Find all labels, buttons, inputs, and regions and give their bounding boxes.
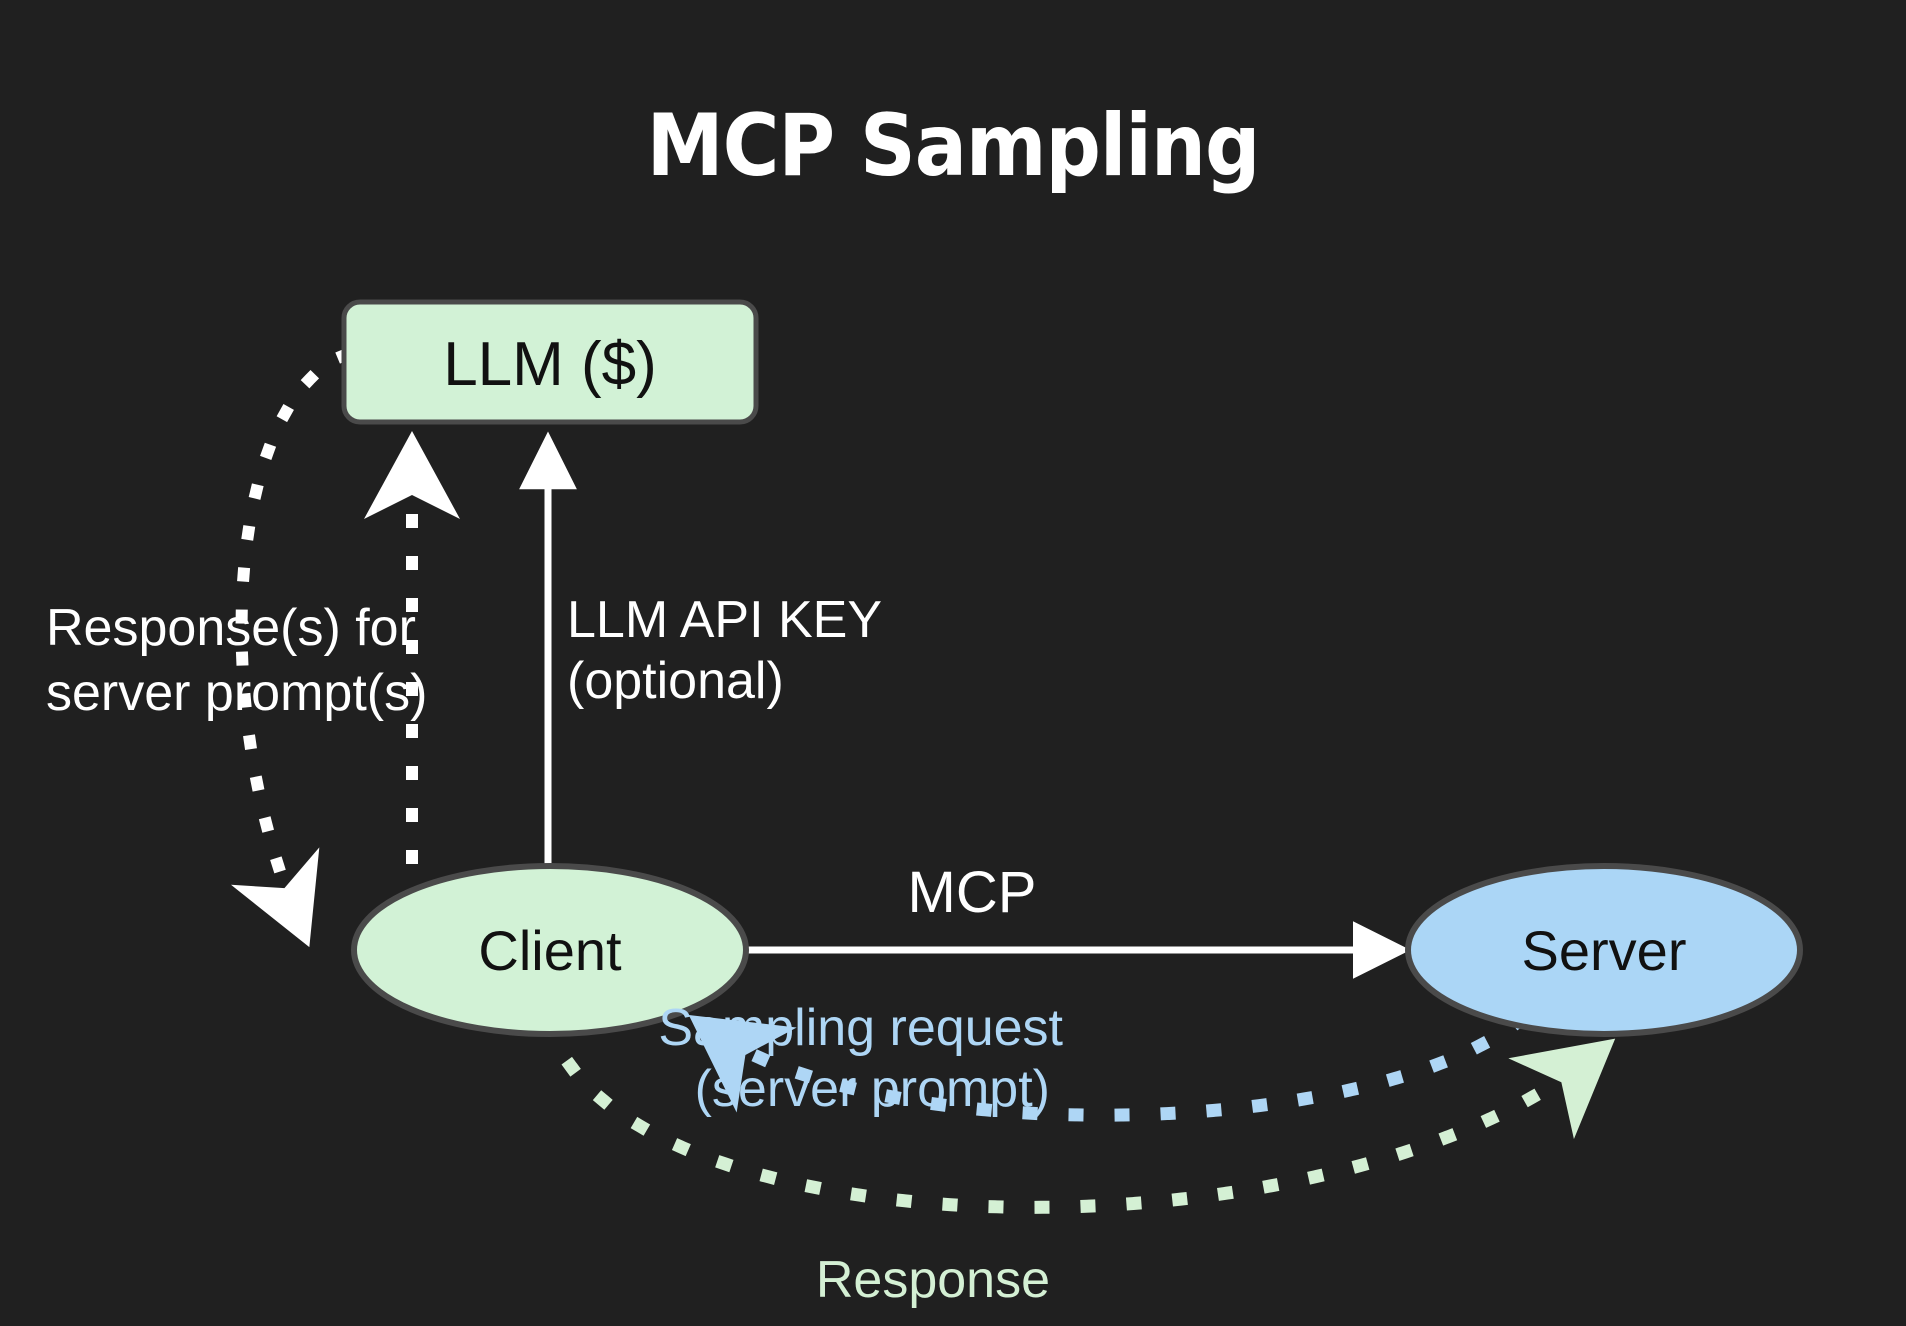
edge-label-llm-api-key-line2: (optional) (567, 652, 784, 710)
diagram-canvas: MCP Sampling LLM ($) Client Server (0, 0, 1906, 1326)
node-client-label: Client (478, 919, 622, 982)
page-title: MCP Sampling (647, 96, 1260, 196)
edge-label-llm-responses-line1: Response(s) for (46, 599, 416, 657)
edge-label-llm-responses-line2: server prompt(s) (46, 664, 427, 722)
canvas-background (0, 0, 1906, 1326)
node-llm-label: LLM ($) (443, 330, 657, 399)
node-server-label: Server (1522, 919, 1687, 982)
node-server[interactable]: Server (1408, 866, 1800, 1034)
edge-label-sampling-request-line2: (server prompt) (695, 1060, 1050, 1118)
edge-label-response: Response (816, 1251, 1050, 1309)
node-llm[interactable]: LLM ($) (344, 302, 756, 422)
edge-label-llm-api-key-line1: LLM API KEY (567, 591, 882, 649)
edge-label-sampling-request-line1: Sampling request (658, 999, 1063, 1057)
mcp-sampling-diagram: MCP Sampling LLM ($) Client Server (0, 0, 1906, 1326)
edge-label-mcp: MCP (908, 860, 1037, 925)
